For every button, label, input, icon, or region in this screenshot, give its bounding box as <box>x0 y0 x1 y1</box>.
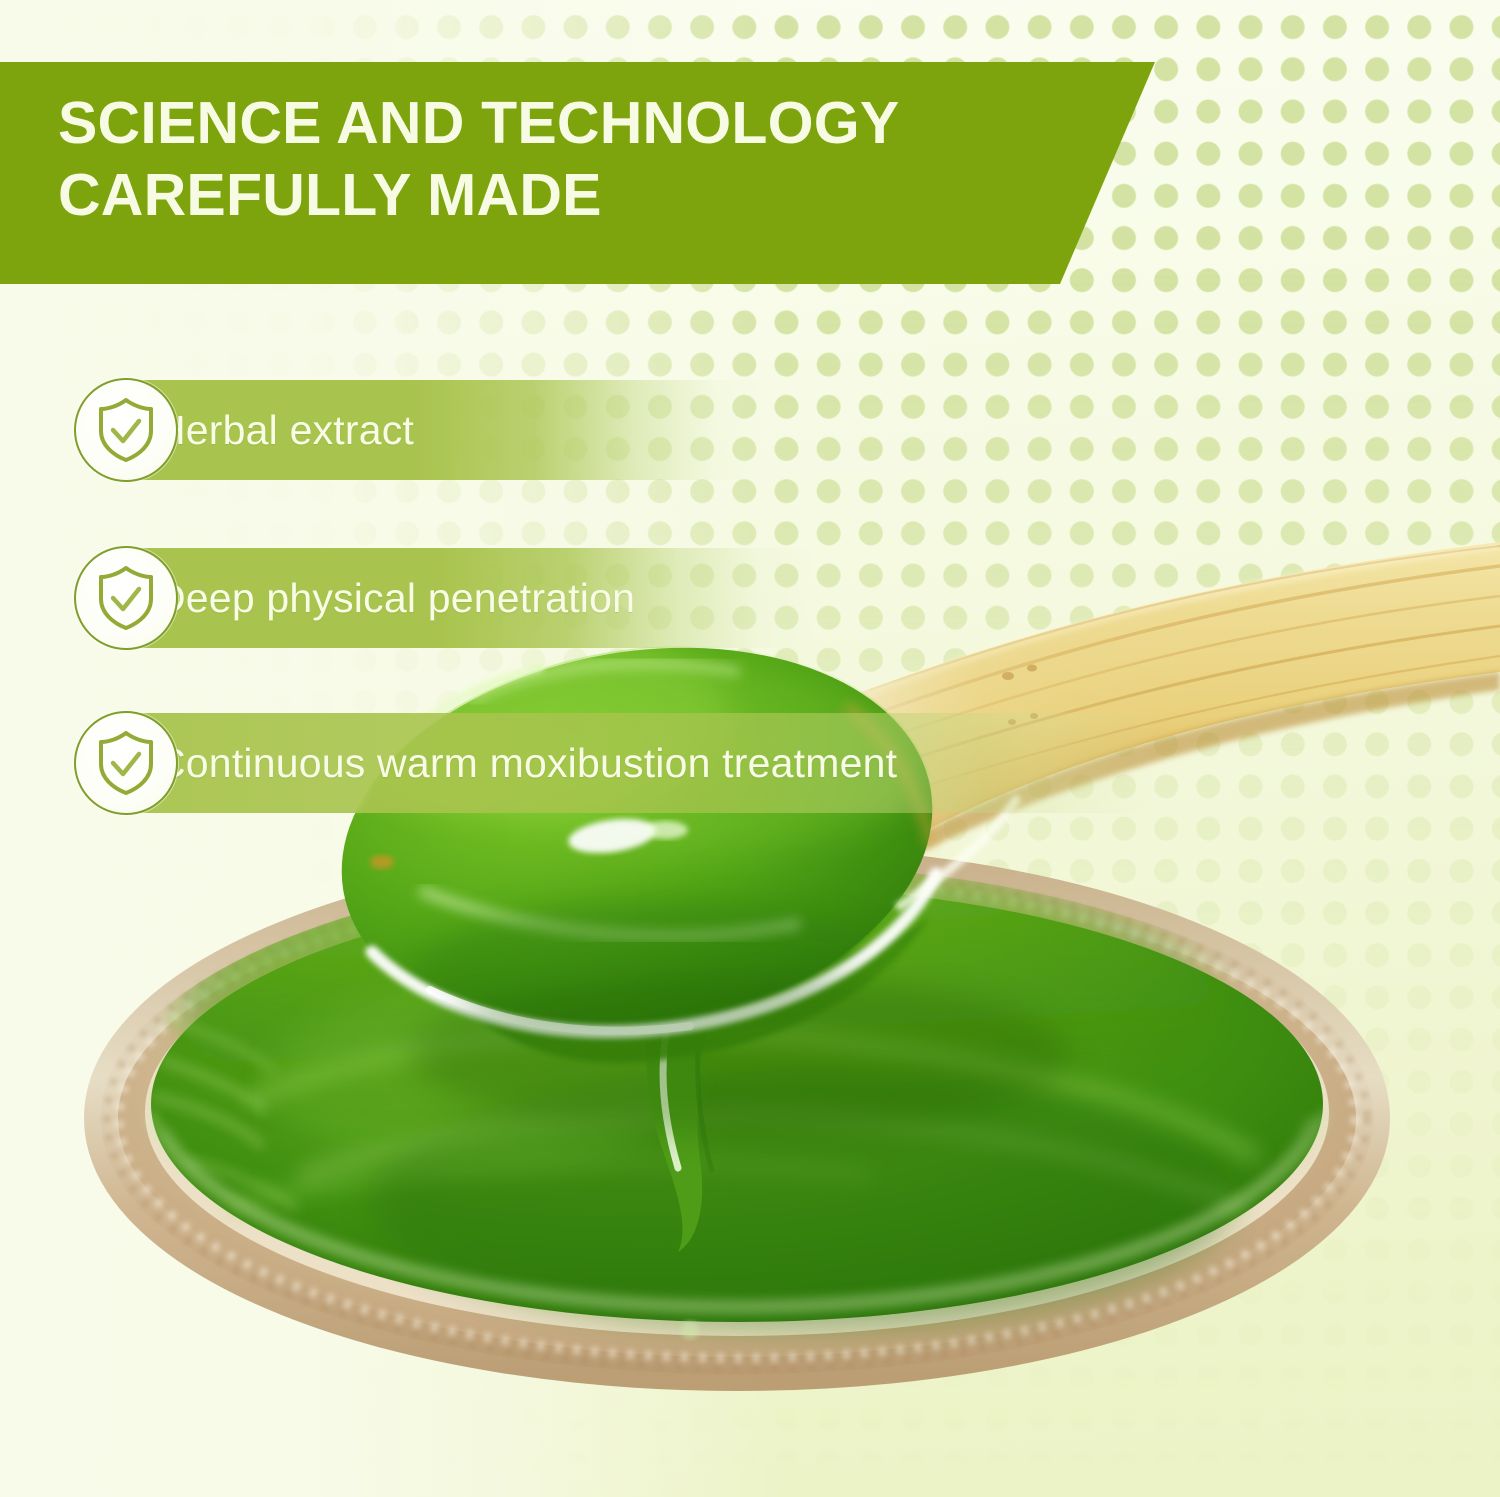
feature-label: Continuous warm moxibustion treatment <box>156 713 897 813</box>
promo-banner-image: SCIENCE AND TECHNOLOGY CAREFULLY MADE He… <box>0 0 1500 1497</box>
shield-check-glyph <box>95 730 157 796</box>
feature-list: Herbal extract Deep physical penetration <box>0 0 1500 1497</box>
feature-label: Deep physical penetration <box>156 548 635 648</box>
shield-check-glyph <box>95 397 157 463</box>
shield-check-icon <box>74 378 178 482</box>
shield-check-icon <box>74 711 178 815</box>
feature-label: Herbal extract <box>156 380 414 480</box>
feature-item-herbal-extract: Herbal extract <box>0 380 900 480</box>
feature-item-deep-physical-penetration: Deep physical penetration <box>0 548 950 648</box>
shield-check-icon <box>74 546 178 650</box>
shield-check-glyph <box>95 565 157 631</box>
feature-item-continuous-warm-moxibustion-treatment: Continuous warm moxibustion treatment <box>0 713 1290 813</box>
